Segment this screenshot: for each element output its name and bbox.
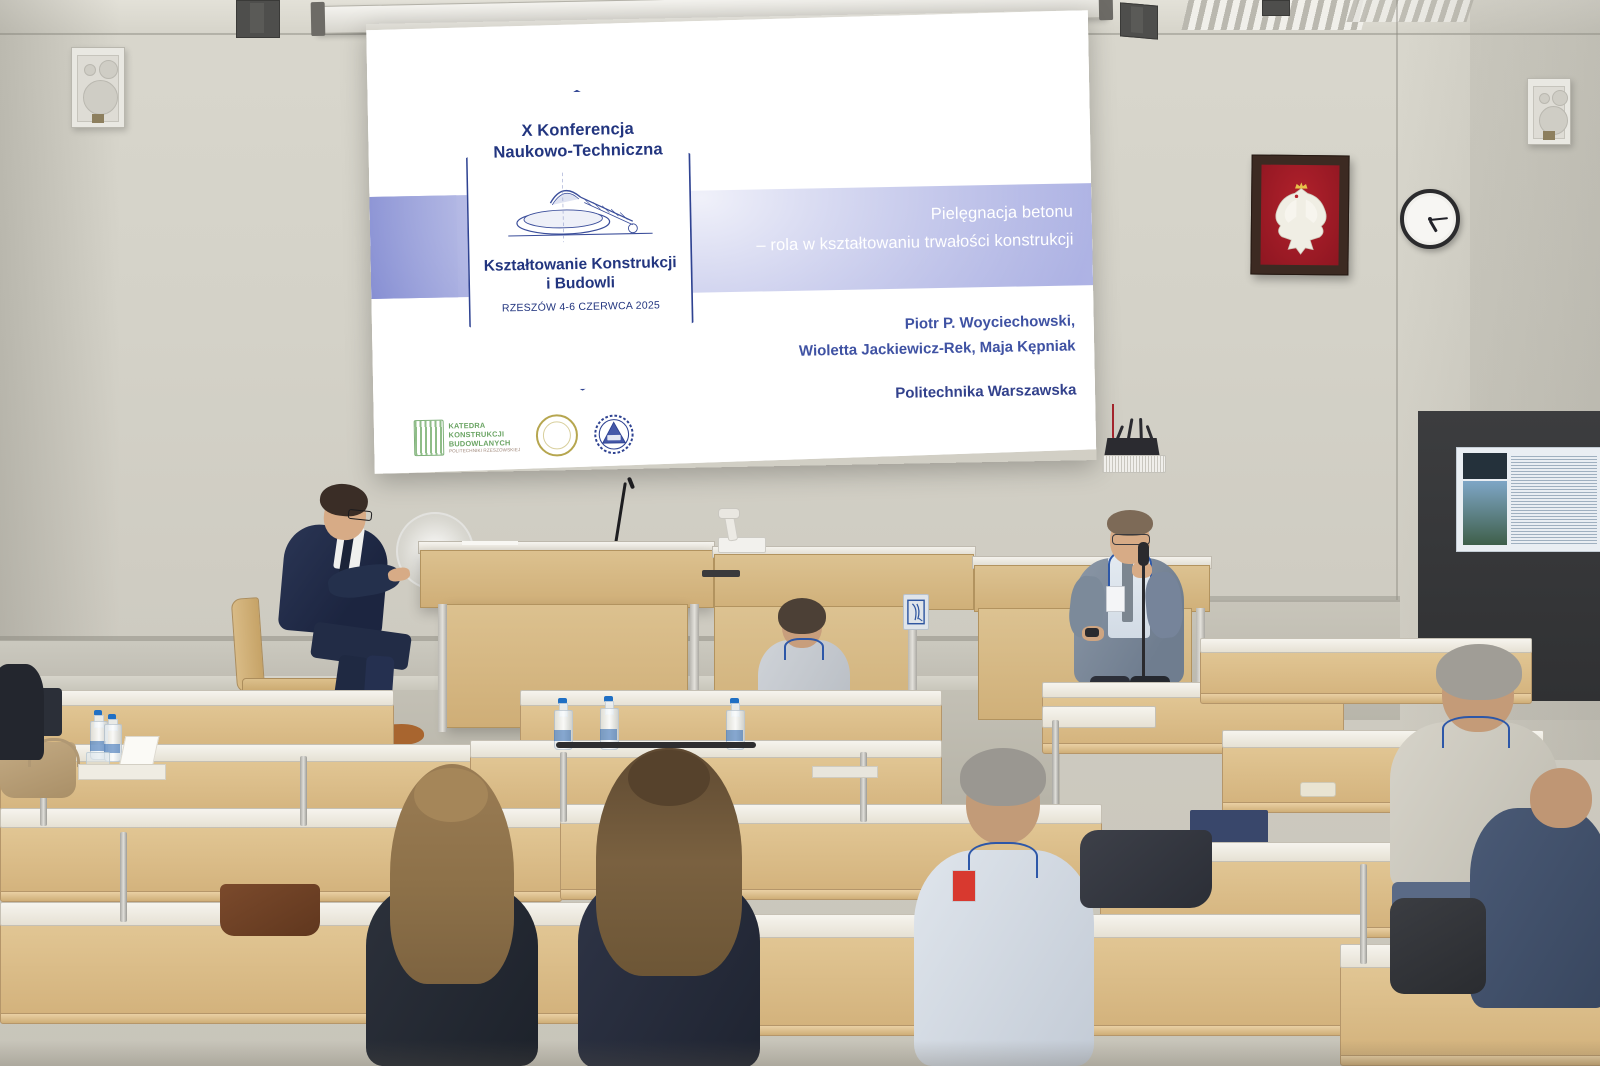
document-camera-head (718, 508, 740, 519)
attendee-hair-right (1436, 644, 1522, 700)
handheld-microphone[interactable] (1138, 542, 1149, 566)
poster-text-block (1511, 454, 1597, 544)
projection-screen[interactable]: X Konferencja Naukowo-Techniczna (366, 10, 1097, 474)
conference-name-line2: Naukowo-Techniczna (493, 139, 663, 162)
attendee-light-shirt (914, 850, 1094, 1066)
slide-affiliation: Politechnika Warszawska (629, 382, 1077, 408)
wall-corner-seam (1396, 0, 1398, 700)
conference-date-place: RZESZÓW 4-6 CZERWCA 2025 (502, 300, 660, 315)
ceiling-mount-bracket-right (1120, 2, 1158, 39)
speaker-hair (1107, 510, 1153, 536)
ceiling-mount-bracket-left (236, 0, 280, 38)
attendee-lanyard-center (968, 842, 1038, 878)
attendee-lanyard-right (1442, 716, 1510, 748)
attendee-grey-center (900, 742, 1100, 1066)
podkarpacka-izba-inzynierow-logo (536, 414, 579, 457)
bench-post-4 (860, 752, 867, 822)
clock-hour-hand (1429, 220, 1438, 233)
bench-post-5 (120, 832, 127, 922)
clock-minute-hand (1430, 217, 1448, 221)
left-wall-speaker (71, 47, 125, 128)
katedra-konstrukcji-budowlanych-logo: KATEDRA KONSTRUKCJI BUDOWLANYCH POLITECH… (413, 418, 520, 456)
attendee-hair (778, 598, 826, 634)
lectern-front-panel[interactable] (420, 550, 714, 608)
lectern-leg-left (438, 604, 447, 732)
bench-clicker[interactable] (1300, 782, 1336, 797)
poster-image-bottom (1463, 481, 1507, 545)
presentation-slide: X Konferencja Naukowo-Techniczna (366, 10, 1097, 474)
attendee-crown (414, 768, 488, 822)
attendee-long-brown-hair (566, 748, 766, 1066)
presentation-clicker[interactable] (1085, 628, 1099, 637)
slide-logo-row: KATEDRA KONSTRUKCJI BUDOWLANYCH POLITECH… (413, 413, 634, 459)
building-glyph-icon (413, 419, 444, 456)
remote-control[interactable] (702, 570, 740, 577)
poster-image-top (1463, 453, 1507, 479)
right-wall-speaker (1527, 78, 1571, 145)
attendee-head-far-right (1530, 768, 1592, 828)
speaker-badge (1106, 586, 1125, 612)
foreground-vignette (0, 1040, 1600, 1066)
attendee-badge-center (952, 870, 976, 902)
attendee-left-edge-body (0, 664, 44, 760)
attendee-lanyard (784, 638, 824, 660)
attendee-crown-2 (628, 750, 710, 806)
dark-backpack (1390, 898, 1486, 994)
conference-poster (1456, 447, 1600, 552)
slide-title: Pielęgnacja betonu – rola w kształtowani… (596, 197, 1074, 263)
document-camera-base[interactable] (718, 537, 766, 553)
bench-post-2 (300, 756, 307, 826)
brown-handbag (220, 884, 320, 936)
katedra-subtitle: POLITECHNIKI RZESZOWSKIEJ (449, 447, 521, 453)
pzitb-logo (594, 414, 635, 455)
router-mount-plate (1102, 455, 1166, 473)
slide-authors: Piotr P. Woyciechowski, Wioletta Jackiew… (627, 310, 1075, 367)
polish-coat-of-arms-frame (1250, 154, 1349, 275)
attendee-long-blonde-hair (356, 764, 546, 1064)
wall-clock (1400, 189, 1460, 249)
coat-of-arms-field (1260, 165, 1339, 266)
attendee-far-right-blue (1470, 768, 1600, 1028)
lectern-paper (462, 541, 518, 545)
bench-post-7 (1360, 864, 1367, 964)
slide-accent-band-dark (369, 196, 458, 299)
white-eagle-icon (1261, 169, 1340, 270)
attendee-hair-grey (960, 748, 1046, 806)
lecture-hall-scene: X Konferencja Naukowo-Techniczna (0, 0, 1600, 1066)
conference-theme-line2: i Budowli (484, 273, 677, 295)
draped-jacket (1080, 830, 1212, 908)
paper-on-bench-1 (812, 766, 878, 778)
attendee-left-edge (0, 664, 50, 784)
paper-on-bench-2 (78, 764, 166, 780)
attendee-blue-jacket (1470, 808, 1600, 1008)
ceiling-mount-bracket-far-right (1262, 0, 1290, 16)
